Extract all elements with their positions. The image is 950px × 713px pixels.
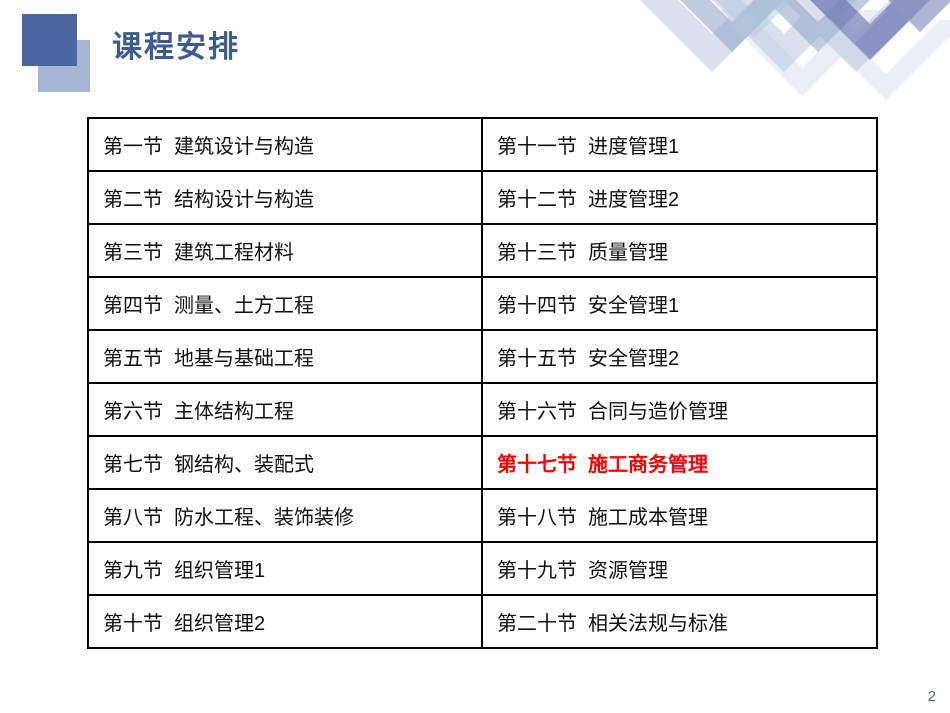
page-title: 课程安排: [112, 33, 240, 63]
section-title: 组织管理2: [174, 607, 265, 636]
agenda-cell-right[interactable]: 第十六节合同与造价管理: [482, 383, 877, 436]
agenda-cell-right-highlighted[interactable]: 第十七节施工商务管理: [482, 436, 877, 489]
table-row: 第六节主体结构工程 第十六节合同与造价管理: [88, 383, 877, 436]
agenda-cell-right[interactable]: 第十九节资源管理: [482, 542, 877, 595]
section-title: 资源管理: [588, 554, 668, 583]
table-row: 第一节建筑设计与构造 第十一节进度管理1: [88, 118, 877, 171]
agenda-cell-left[interactable]: 第十节组织管理2: [88, 595, 482, 648]
agenda-cell-right[interactable]: 第十五节安全管理2: [482, 330, 877, 383]
section-number: 第二节: [103, 183, 163, 212]
agenda-cell-left[interactable]: 第六节主体结构工程: [88, 383, 482, 436]
section-number: 第九节: [103, 554, 163, 583]
agenda-table: 第一节建筑设计与构造 第十一节进度管理1 第二节结构设计与构造 第十二节进度管理…: [87, 117, 878, 649]
section-title: 钢结构、装配式: [174, 448, 314, 477]
agenda-cell-right[interactable]: 第十四节安全管理1: [482, 277, 877, 330]
section-title: 施工商务管理: [588, 448, 708, 477]
table-row: 第三节建筑工程材料 第十三节质量管理: [88, 224, 877, 277]
section-title: 安全管理2: [588, 342, 679, 371]
agenda-cell-left[interactable]: 第七节钢结构、装配式: [88, 436, 482, 489]
agenda-cell-right[interactable]: 第十八节施工成本管理: [482, 489, 877, 542]
section-title: 施工成本管理: [588, 501, 708, 530]
section-title: 进度管理2: [588, 183, 679, 212]
table-row: 第九节组织管理1 第十九节资源管理: [88, 542, 877, 595]
section-number: 第十四节: [497, 289, 577, 318]
table-row: 第五节地基与基础工程 第十五节安全管理2: [88, 330, 877, 383]
section-title: 结构设计与构造: [174, 183, 314, 212]
slide-canvas: 课程安排 第一节建筑设计与构造 第十一节进度管理1 第二节结构设计与构造 第十二…: [0, 0, 950, 713]
section-number: 第四节: [103, 289, 163, 318]
section-number: 第十三节: [497, 236, 577, 265]
section-title: 防水工程、装饰装修: [174, 501, 354, 530]
section-title: 建筑设计与构造: [174, 130, 314, 159]
agenda-cell-right[interactable]: 第十二节进度管理2: [482, 171, 877, 224]
agenda-cell-left[interactable]: 第一节建筑设计与构造: [88, 118, 482, 171]
section-number: 第十九节: [497, 554, 577, 583]
page-number: 2: [928, 689, 936, 704]
section-number: 第十一节: [497, 130, 577, 159]
agenda-table-body: 第一节建筑设计与构造 第十一节进度管理1 第二节结构设计与构造 第十二节进度管理…: [88, 118, 877, 648]
section-title: 地基与基础工程: [174, 342, 314, 371]
section-title: 测量、土方工程: [174, 289, 314, 318]
section-title: 质量管理: [588, 236, 668, 265]
section-title: 建筑工程材料: [174, 236, 294, 265]
section-title: 主体结构工程: [174, 395, 294, 424]
section-title: 合同与造价管理: [588, 395, 728, 424]
agenda-cell-left[interactable]: 第三节建筑工程材料: [88, 224, 482, 277]
agenda-cell-right[interactable]: 第十三节质量管理: [482, 224, 877, 277]
section-number: 第六节: [103, 395, 163, 424]
agenda-cell-left[interactable]: 第九节组织管理1: [88, 542, 482, 595]
section-number: 第十五节: [497, 342, 577, 371]
agenda-cell-right[interactable]: 第二十节相关法规与标准: [482, 595, 877, 648]
section-number: 第七节: [103, 448, 163, 477]
header-square-front: [22, 14, 77, 66]
section-number: 第一节: [103, 130, 163, 159]
agenda-cell-right[interactable]: 第十一节进度管理1: [482, 118, 877, 171]
table-row: 第四节测量、土方工程 第十四节安全管理1: [88, 277, 877, 330]
section-title: 进度管理1: [588, 130, 679, 159]
section-title: 组织管理1: [174, 554, 265, 583]
agenda-cell-left[interactable]: 第五节地基与基础工程: [88, 330, 482, 383]
table-row: 第十节组织管理2 第二十节相关法规与标准: [88, 595, 877, 648]
table-row: 第二节结构设计与构造 第十二节进度管理2: [88, 171, 877, 224]
section-number: 第十节: [103, 607, 163, 636]
agenda-cell-left[interactable]: 第二节结构设计与构造: [88, 171, 482, 224]
section-number: 第三节: [103, 236, 163, 265]
section-number: 第十八节: [497, 501, 577, 530]
section-number: 第八节: [103, 501, 163, 530]
section-title: 相关法规与标准: [588, 607, 728, 636]
table-row: 第七节钢结构、装配式 第十七节施工商务管理: [88, 436, 877, 489]
agenda-cell-left[interactable]: 第八节防水工程、装饰装修: [88, 489, 482, 542]
table-row: 第八节防水工程、装饰装修 第十八节施工成本管理: [88, 489, 877, 542]
section-number: 第十七节: [497, 448, 577, 477]
section-number: 第十二节: [497, 183, 577, 212]
chevron-decoration: [620, 0, 950, 100]
agenda-cell-left[interactable]: 第四节测量、土方工程: [88, 277, 482, 330]
section-number: 第五节: [103, 342, 163, 371]
section-title: 安全管理1: [588, 289, 679, 318]
section-number: 第十六节: [497, 395, 577, 424]
section-number: 第二十节: [497, 607, 577, 636]
